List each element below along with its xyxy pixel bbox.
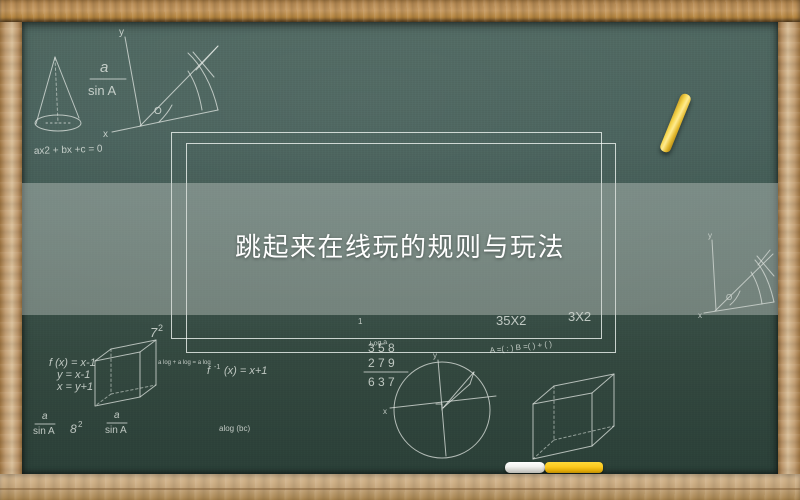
frame-top-rail bbox=[0, 0, 800, 22]
frame-left-rail bbox=[0, 0, 22, 500]
page-title-wrap: 跳起来在线玩的规则与玩法 bbox=[22, 227, 778, 264]
chalk-stick-white-tray bbox=[505, 462, 545, 473]
frame-right-rail bbox=[778, 0, 800, 500]
blackboard-surface: a sin A ax2 + bx +c = 0 y x O bbox=[22, 22, 778, 474]
chalk-tray bbox=[0, 474, 800, 500]
page-title: 跳起来在线玩的规则与玩法 bbox=[235, 227, 565, 264]
chalk-tray-lip bbox=[0, 488, 800, 490]
blackboard-banner: a sin A ax2 + bx +c = 0 y x O bbox=[0, 0, 800, 500]
chalk-stick-yellow-tray bbox=[545, 462, 603, 473]
